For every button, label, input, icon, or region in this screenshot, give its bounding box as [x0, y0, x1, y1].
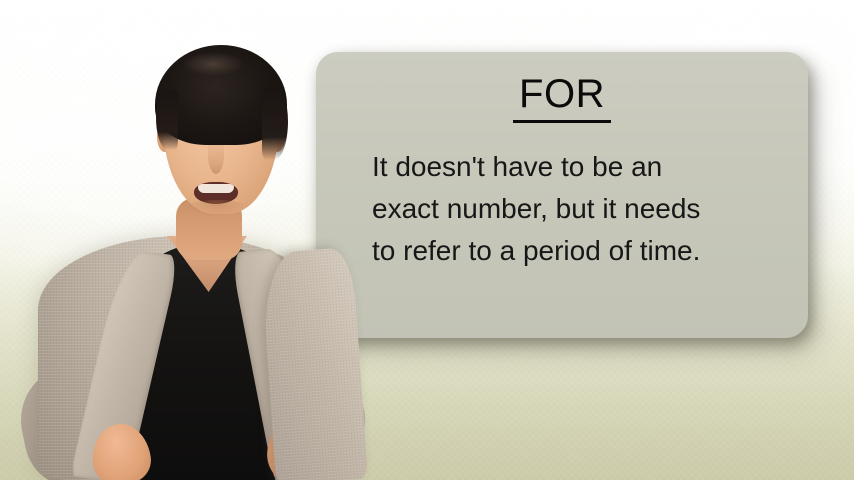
caption-body: It doesn't have to be an exact number, b…	[372, 146, 786, 272]
caption-body-line-1: It doesn't have to be an	[372, 146, 786, 188]
presenter-shoulder-overlap	[260, 247, 368, 480]
presenter-hair-right-side	[262, 88, 288, 160]
caption-title: FOR	[316, 74, 808, 114]
caption-body-line-2: exact number, but it needs	[372, 188, 786, 230]
caption-body-line-3: to refer to a period of time.	[372, 230, 786, 272]
presenter-hair-highlight	[182, 52, 244, 76]
video-frame: FOR It doesn't have to be an exact numbe…	[0, 0, 854, 480]
shoulder-knit-texture	[260, 247, 368, 480]
caption-panel: FOR It doesn't have to be an exact numbe…	[316, 52, 808, 338]
caption-title-text: FOR	[513, 72, 611, 123]
presenter-chin-shadow	[186, 200, 248, 216]
presenter-hair-left-side	[156, 90, 178, 150]
presenter-teeth	[198, 184, 234, 193]
